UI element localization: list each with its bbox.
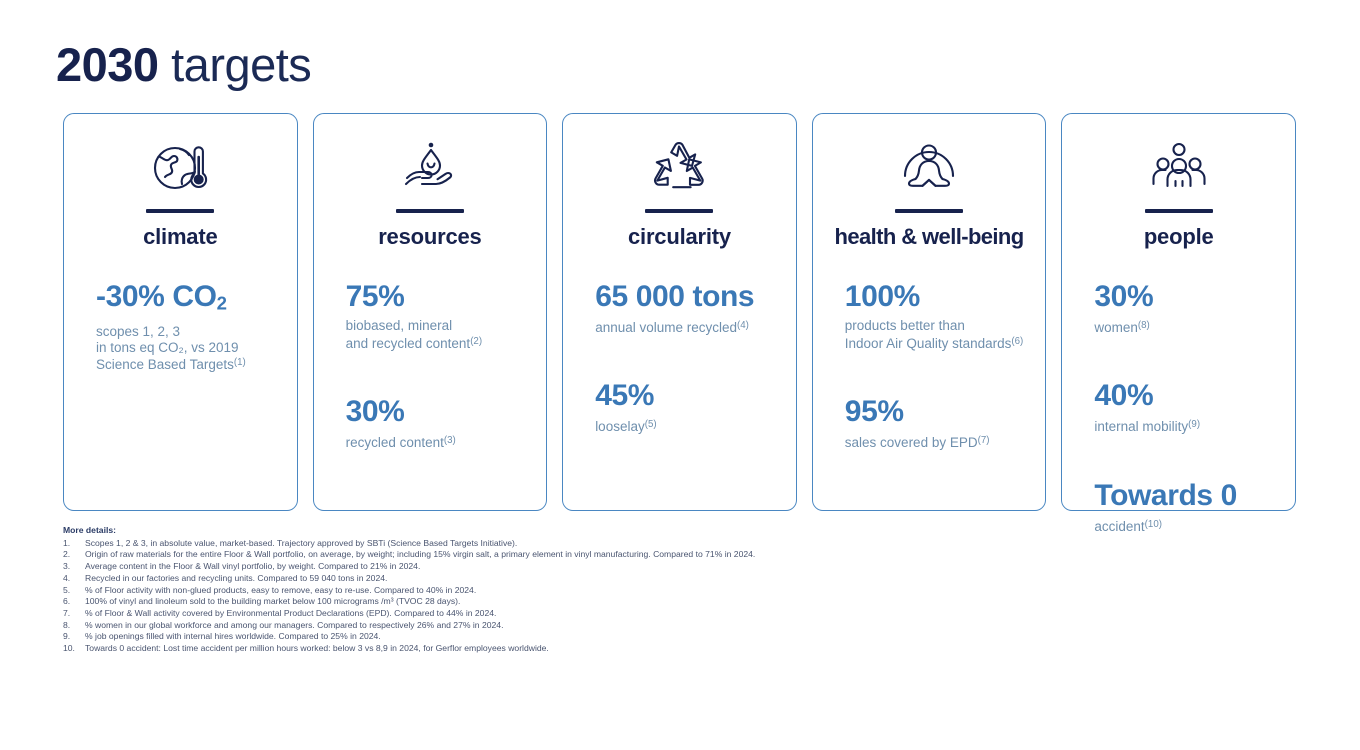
- stat-label-line: in tons eq CO₂, vs 2019: [96, 340, 297, 356]
- footnote-text: % of Floor & Wall activity covered by En…: [85, 608, 1303, 620]
- footnote-number: 10.: [63, 643, 85, 655]
- footnote-text: 100% of vinyl and linoleum sold to the b…: [85, 596, 1303, 608]
- stat-value-text: -30% CO: [96, 280, 217, 313]
- stat-label-line: Indoor Air Quality standards(6): [845, 334, 1046, 351]
- card-divider: [146, 209, 214, 213]
- stat-value: Towards 0: [1094, 479, 1295, 513]
- stat-label-line: internal mobility(9): [1094, 417, 1295, 434]
- stat-value: 95%: [845, 395, 1046, 429]
- footnote-ref[interactable]: (5): [645, 419, 657, 430]
- footnote-number: 1.: [63, 538, 85, 550]
- target-card-resources[interactable]: resources75%biobased, mineraland recycle…: [313, 113, 548, 511]
- footnote-number: 9.: [63, 631, 85, 643]
- stat-label-text: internal mobility: [1094, 419, 1188, 434]
- footnote-text: % job openings filled with internal hire…: [85, 631, 1303, 643]
- stat-label: women(8): [1094, 318, 1295, 335]
- card-divider: [895, 209, 963, 213]
- stat-label-line: annual volume recycled(4): [595, 318, 796, 335]
- target-card-health-well-being[interactable]: health & well-being100%products better t…: [812, 113, 1047, 511]
- stat-label: annual volume recycled(4): [595, 318, 796, 335]
- stat-item: 30%recycled content(3): [346, 395, 547, 450]
- stat-label-line: Science Based Targets(1): [96, 355, 297, 372]
- footnote-number: 3.: [63, 561, 85, 573]
- card-stats: -30% CO2scopes 1, 2, 3in tons eq CO₂, vs…: [64, 250, 297, 373]
- stat-item: 40%internal mobility(9): [1094, 379, 1295, 434]
- stat-label: scopes 1, 2, 3in tons eq CO₂, vs 2019Sci…: [96, 324, 297, 372]
- card-stats: 100%products better thanIndoor Air Quali…: [813, 250, 1046, 450]
- stat-label-line: women(8): [1094, 318, 1295, 335]
- footnote-ref[interactable]: (3): [444, 435, 456, 446]
- hand-waterdrop-icon: [314, 137, 547, 199]
- footnote-text: Average content in the Floor & Wall viny…: [85, 561, 1303, 573]
- footnote-ref[interactable]: (9): [1188, 419, 1200, 430]
- footnote-text: Origin of raw materials for the entire F…: [85, 549, 1303, 561]
- footnote-number: 7.: [63, 608, 85, 620]
- stat-label-text: women: [1094, 320, 1138, 335]
- footnote-text: Towards 0 accident: Lost time accident p…: [85, 643, 1303, 655]
- footnote-item: 1.Scopes 1, 2 & 3, in absolute value, ma…: [63, 538, 1303, 550]
- card-divider: [396, 209, 464, 213]
- meditation-icon: [813, 137, 1046, 199]
- stat-value: 40%: [1094, 379, 1295, 413]
- card-stats: 75%biobased, mineraland recycled content…: [314, 250, 547, 450]
- footnote-text: % women in our global workforce and amon…: [85, 620, 1303, 632]
- stat-label: recycled content(3): [346, 433, 547, 450]
- stat-label-text: sales covered by EPD: [845, 435, 978, 450]
- footnote-ref[interactable]: (1): [234, 357, 246, 368]
- stat-label: internal mobility(9): [1094, 417, 1295, 434]
- card-stats: 30%women(8)40%internal mobility(9)Toward…: [1062, 250, 1295, 534]
- stat-label-line: products better than: [845, 318, 1046, 334]
- stat-label-line: recycled content(3): [346, 433, 547, 450]
- card-title-people: people: [1062, 224, 1295, 250]
- globe-thermometer-icon: [64, 137, 297, 199]
- stat-label-text: scopes 1, 2, 3: [96, 324, 180, 339]
- stat-value-subscript: 2: [217, 292, 227, 313]
- page-title-year: 2030: [56, 38, 159, 91]
- footnote-text: Scopes 1, 2 & 3, in absolute value, mark…: [85, 538, 1303, 550]
- stat-item: 65 000 tonsannual volume recycled(4): [595, 280, 796, 335]
- card-title-climate: climate: [64, 224, 297, 250]
- stat-item: 75%biobased, mineraland recycled content…: [346, 280, 547, 351]
- stat-value: -30% CO2: [96, 280, 297, 320]
- stat-label-line: scopes 1, 2, 3: [96, 324, 297, 340]
- stat-value: 65 000 tons: [595, 280, 796, 314]
- footnotes: More details: 1.Scopes 1, 2 & 3, in abso…: [63, 525, 1303, 655]
- stat-item: -30% CO2scopes 1, 2, 3in tons eq CO₂, vs…: [96, 280, 297, 373]
- targets-card-row: climate-30% CO2scopes 1, 2, 3in tons eq …: [63, 113, 1296, 511]
- stat-label-text: recycled content: [346, 435, 444, 450]
- page-title: 2030 targets: [56, 36, 311, 94]
- recycling-icon: [563, 137, 796, 199]
- card-divider: [645, 209, 713, 213]
- stat-label-line: looselay(5): [595, 417, 796, 434]
- footnote-ref[interactable]: (8): [1138, 320, 1150, 331]
- stat-item: 100%products better thanIndoor Air Quali…: [845, 280, 1046, 351]
- target-card-climate[interactable]: climate-30% CO2scopes 1, 2, 3in tons eq …: [63, 113, 298, 511]
- stat-value: 75%: [346, 280, 547, 314]
- stat-label-text: annual volume recycled: [595, 320, 737, 335]
- footnote-number: 8.: [63, 620, 85, 632]
- stat-label-text: looselay: [595, 419, 645, 434]
- footnote-item: 4.Recycled in our factories and recyclin…: [63, 573, 1303, 585]
- card-divider: [1145, 209, 1213, 213]
- stat-label: biobased, mineraland recycled content(2): [346, 318, 547, 351]
- footnote-text: Recycled in our factories and recycling …: [85, 573, 1303, 585]
- stat-item: 30%women(8): [1094, 280, 1295, 335]
- targets-infographic: 2030 targets climate-30% CO2scopes 1, 2,…: [0, 0, 1360, 750]
- stat-value: 30%: [346, 395, 547, 429]
- footnote-item: 10.Towards 0 accident: Lost time acciden…: [63, 643, 1303, 655]
- footnote-ref[interactable]: (6): [1011, 336, 1023, 347]
- footnote-number: 6.: [63, 596, 85, 608]
- card-title-health-well-being: health & well-being: [813, 224, 1046, 250]
- stat-item: 45%looselay(5): [595, 379, 796, 434]
- stat-label-line: and recycled content(2): [346, 334, 547, 351]
- stat-label: sales covered by EPD(7): [845, 433, 1046, 450]
- stat-value: 30%: [1094, 280, 1295, 314]
- footnote-number: 4.: [63, 573, 85, 585]
- footnote-item: 3.Average content in the Floor & Wall vi…: [63, 561, 1303, 573]
- stat-label-line: sales covered by EPD(7): [845, 433, 1046, 450]
- footnote-number: 5.: [63, 585, 85, 597]
- footnote-item: 6.100% of vinyl and linoleum sold to the…: [63, 596, 1303, 608]
- stat-label-text: biobased, mineral: [346, 318, 453, 333]
- footnote-item: 7.% of Floor & Wall activity covered by …: [63, 608, 1303, 620]
- card-title-resources: resources: [314, 224, 547, 250]
- footnotes-heading: More details:: [63, 525, 1303, 537]
- footnote-item: 8.% women in our global workforce and am…: [63, 620, 1303, 632]
- stat-label-line: biobased, mineral: [346, 318, 547, 334]
- target-card-circularity[interactable]: circularity65 000 tonsannual volume recy…: [562, 113, 797, 511]
- footnote-ref[interactable]: (4): [737, 320, 749, 331]
- stat-label-text: Science Based Targets: [96, 357, 234, 372]
- stat-item: 95%sales covered by EPD(7): [845, 395, 1046, 450]
- card-stats: 65 000 tonsannual volume recycled(4)45%l…: [563, 250, 796, 435]
- stat-value: 100%: [845, 280, 1046, 314]
- footnote-item: 9.% job openings filled with internal hi…: [63, 631, 1303, 643]
- footnote-text: % of Floor activity with non-glued produ…: [85, 585, 1303, 597]
- stat-label: looselay(5): [595, 417, 796, 434]
- stat-label-text: products better than: [845, 318, 965, 333]
- card-title-circularity: circularity: [563, 224, 796, 250]
- footnote-item: 5.% of Floor activity with non-glued pro…: [63, 585, 1303, 597]
- stat-label-text: in tons eq CO₂, vs 2019: [96, 340, 239, 355]
- footnote-number: 2.: [63, 549, 85, 561]
- footnote-ref[interactable]: (7): [978, 435, 990, 446]
- page-title-word: targets: [159, 38, 312, 91]
- footnote-item: 2.Origin of raw materials for the entire…: [63, 549, 1303, 561]
- stat-value: 45%: [595, 379, 796, 413]
- stat-label: products better thanIndoor Air Quality s…: [845, 318, 1046, 351]
- footnote-ref[interactable]: (2): [470, 336, 482, 347]
- stat-label-text: Indoor Air Quality standards: [845, 335, 1012, 350]
- target-card-people[interactable]: people30%women(8)40%internal mobility(9)…: [1061, 113, 1296, 511]
- stat-label-text: and recycled content: [346, 335, 471, 350]
- people-group-icon: [1062, 137, 1295, 199]
